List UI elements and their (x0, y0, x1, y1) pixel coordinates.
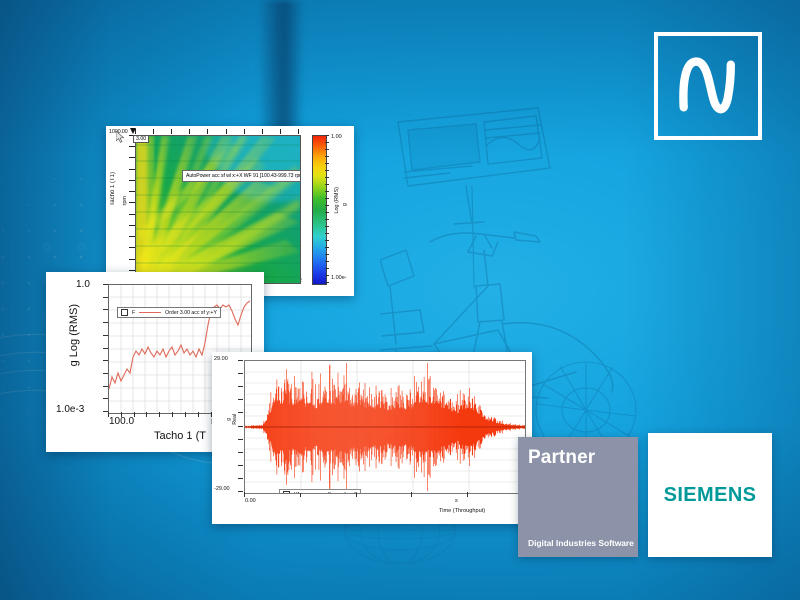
chart-panel-colormap[interactable]: 1000.00 Tacho 1 (T1) rpm 74.02 (106, 126, 354, 296)
colormap-raster (136, 136, 300, 283)
order-y-axis-label: g Log (RMS) (68, 304, 80, 366)
order-legend-checkbox[interactable] (121, 309, 128, 316)
waveform-x-axis-unit: s (455, 498, 458, 504)
order-legend-channel: F (132, 310, 135, 316)
colorbar-min-value: 1.00e- (331, 275, 347, 281)
order-x-axis-label: Tacho 1 (T (154, 430, 206, 442)
siemens-wordmark: SIEMENS (664, 484, 757, 507)
colormap-cursor-value[interactable]: 3.00 (133, 135, 149, 143)
siemens-logo-badge: SIEMENS (648, 433, 772, 557)
waveform-x-min: 0.00 (245, 498, 256, 504)
product-logo-mark (654, 32, 762, 140)
banner-stage: 1000.00 Tacho 1 (T1) rpm 74.02 (0, 0, 800, 600)
waveform-trace (245, 361, 525, 493)
order-legend-color-swatch (139, 312, 161, 313)
colorbar-ticks (325, 135, 330, 283)
partner-badge: Partner Digital Industries Software (518, 437, 638, 557)
colorbar-max-value: 1.00 (331, 134, 342, 140)
waveform-y-max: 29.00 (214, 356, 228, 362)
colormap-colorbar[interactable]: 1.00 1.00e- Log (RMS) g (312, 135, 346, 283)
colorbar-label: Log (RMS) (334, 187, 340, 214)
order-y-max: 1.0 (76, 279, 90, 290)
cursor-marker-icon (130, 128, 136, 134)
mouse-cursor-icon (116, 130, 126, 148)
colormap-annotation-label: AutoPower acc sf wl x:+X WF 91 [100.43-9… (182, 170, 301, 182)
wave-n-icon (670, 48, 746, 124)
colorbar-unit: g (342, 203, 348, 206)
order-y-min: 1.0e-3 (56, 404, 84, 415)
waveform-x-axis-label: Time (Throughput) (439, 508, 485, 514)
waveform-y-min: -29.00 (214, 486, 230, 492)
partner-subtitle: Digital Industries Software (528, 538, 634, 548)
colormap-y-axis-unit: rpm (122, 196, 128, 205)
order-x-min: 100.0 (109, 416, 134, 427)
chart-panel-waveform[interactable]: 29.00 -29.00 g Real Y1 F acc sf z:+Z 0.0… (212, 352, 532, 524)
partner-title: Partner (528, 447, 595, 469)
order-legend-trace-name: Order 3.00 acc sf y:+Y (165, 310, 217, 316)
order-legend[interactable]: F Order 3.00 acc sf y:+Y (117, 307, 221, 318)
colormap-plot-area[interactable]: AutoPower acc sf wl x:+X WF 91 [100.43-9… (135, 135, 301, 284)
waveform-plot-area[interactable]: Y1 F acc sf z:+Z (244, 360, 526, 494)
colormap-y-axis-label: Tacho 1 (T1) (110, 172, 122, 206)
